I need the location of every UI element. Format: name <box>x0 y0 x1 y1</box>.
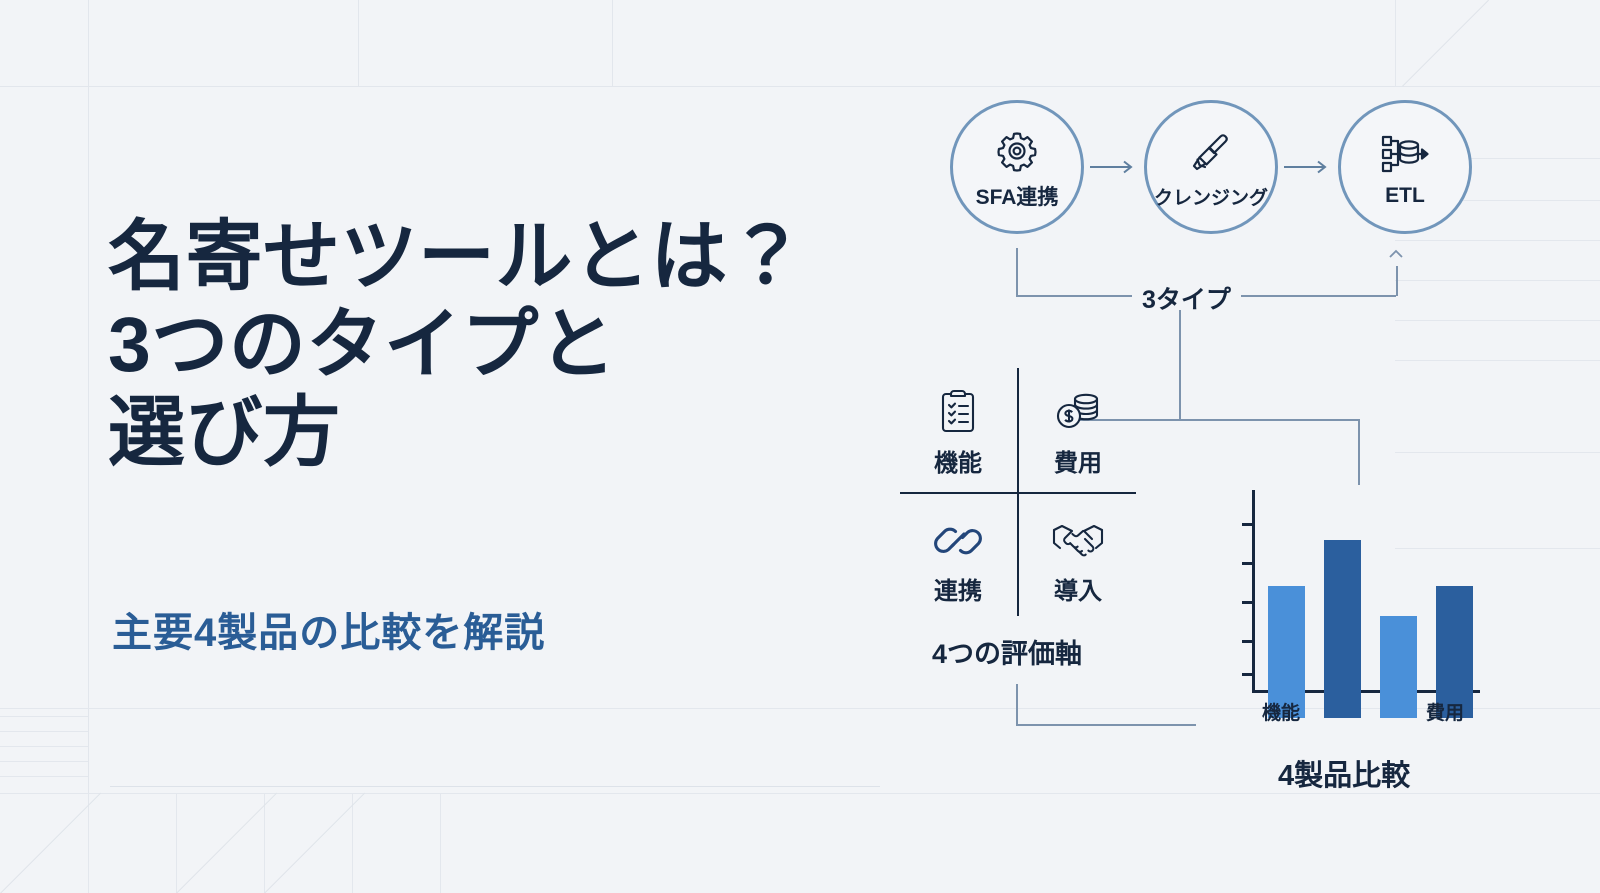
bar[interactable] <box>1380 616 1417 718</box>
handshake-icon <box>1051 506 1105 564</box>
clipboard-check-icon <box>936 378 980 436</box>
branch-to-chart <box>1358 419 1360 485</box>
quadrant-cell-function[interactable]: 機能 <box>902 368 1014 488</box>
flow-arrow-2 <box>1282 158 1334 181</box>
quadrant-cell-deployment[interactable]: 導入 <box>1022 496 1134 616</box>
flow-node-label: ETL <box>1385 184 1425 208</box>
bracket-up-arrow <box>1384 248 1408 275</box>
headline-divider <box>110 786 880 787</box>
gear-icon <box>993 123 1041 179</box>
bracket-label-3types: 3タイプ <box>1132 280 1241 316</box>
flow-node-etl[interactable]: ETL <box>1338 100 1472 234</box>
branch-stem-vertical <box>1179 310 1181 420</box>
page-title: 名寄せツールとは？ 3つのタイプと 選び方 <box>108 214 928 477</box>
lower-bracket-stem <box>1016 684 1018 726</box>
brush-icon <box>1187 125 1235 181</box>
bracket-left-stem <box>1016 248 1018 296</box>
slide-canvas: 名寄せツールとは？ 3つのタイプと 選び方 主要4製品の比較を解説 SFA連携 <box>0 0 1600 893</box>
bar[interactable] <box>1324 540 1361 718</box>
title-line-2: 3つのタイプと <box>108 302 928 390</box>
lower-bracket-crossbar <box>1016 724 1196 726</box>
flow-node-sfa[interactable]: SFA連携 <box>950 100 1084 234</box>
quadrant-cell-integration[interactable]: 連携 <box>902 496 1014 616</box>
process-diagram: SFA連携 クレンジング <box>900 70 1600 860</box>
flow-arrow-1 <box>1088 158 1140 181</box>
title-line-3: 選び方 <box>108 390 928 478</box>
quadrant-divider-horizontal <box>900 492 1136 494</box>
chain-link-icon <box>934 506 982 564</box>
title-line-1: 名寄せツールとは？ <box>108 214 928 302</box>
flow-node-cleansing[interactable]: クレンジング <box>1144 100 1278 234</box>
chart-tick-label-cost: 費用 <box>1426 698 1464 725</box>
quadrant-cell-label: 連携 <box>934 571 982 606</box>
quadrant-cell-label: 費用 <box>1054 443 1102 478</box>
quadrant-cell-label: 機能 <box>934 443 982 478</box>
chart-title: 4製品比較 <box>1278 752 1410 794</box>
flow-node-label: SFA連携 <box>976 181 1059 211</box>
section-label-evaluation: 4つの評価軸 <box>932 632 1082 671</box>
chart-bars <box>1254 518 1480 718</box>
coins-dollar-icon <box>1053 378 1103 436</box>
evaluation-quadrant: 機能 費用 <box>900 368 1136 618</box>
comparison-bar-chart: 機能 費用 <box>1220 490 1480 720</box>
page-subtitle: 主要4製品の比較を解説 <box>112 600 545 658</box>
quadrant-cell-label: 導入 <box>1054 571 1102 606</box>
flow-node-label: クレンジング <box>1154 183 1268 210</box>
chart-tick-label-function: 機能 <box>1262 698 1300 725</box>
etl-database-icon <box>1380 126 1430 182</box>
quadrant-cell-cost[interactable]: 費用 <box>1022 368 1134 488</box>
